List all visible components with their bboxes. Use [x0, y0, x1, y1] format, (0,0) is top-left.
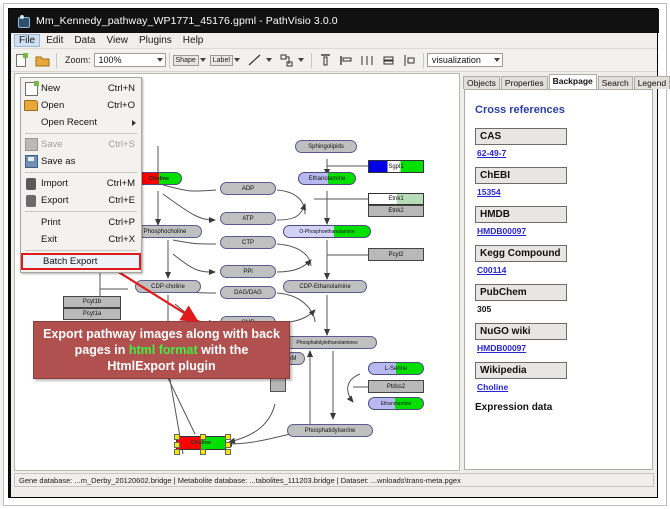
- node-choline-top[interactable]: Choline: [136, 172, 182, 185]
- connector-tool-icon[interactable]: [278, 52, 295, 69]
- node-label: ATP: [242, 216, 253, 222]
- node-cdp-choline[interactable]: CDP-choline: [135, 280, 201, 293]
- menu-edit[interactable]: Edit: [41, 34, 68, 47]
- open-folder-icon: [21, 97, 41, 114]
- app-root: Mm_Kennedy_pathway_WP1771_45176.gpml - P…: [0, 0, 670, 509]
- db-header-wikipedia: Wikipedia: [475, 362, 567, 379]
- new-document-icon: [21, 80, 41, 97]
- menu-separator: [25, 172, 137, 173]
- file-menu-item-new[interactable]: New Ctrl+N: [21, 80, 141, 97]
- side-panel: Objects Properties Backpage Search Legen…: [463, 73, 654, 471]
- file-menu-label: Export: [41, 195, 108, 206]
- node-etnk1[interactable]: Etnk1: [368, 193, 424, 205]
- node-label: ADP: [242, 186, 254, 192]
- resize-handle[interactable]: [225, 442, 231, 448]
- node-pcyt1a[interactable]: Pcyt1a: [63, 308, 121, 320]
- line-tool-icon[interactable]: [246, 52, 263, 69]
- file-menu-item-print[interactable]: Print Ctrl+P: [21, 214, 141, 231]
- node-label: Choline: [149, 176, 169, 182]
- file-menu-label: Exit: [41, 234, 108, 245]
- window-client-area: File Edit Data View Plugins Help Zoom: 1…: [11, 33, 657, 497]
- menu-separator: [25, 211, 137, 212]
- node-label: Etnk2: [388, 208, 403, 214]
- node-phosphatidylethanolamines[interactable]: Phosphatidylethanolamines: [277, 336, 377, 349]
- menu-bar: File Edit Data View Plugins Help: [11, 33, 657, 49]
- toolbar-separator: [169, 53, 170, 68]
- annotation-line2-a: pages in: [75, 343, 129, 357]
- zoom-label: Zoom:: [65, 55, 91, 65]
- application-window: Mm_Kennedy_pathway_WP1771_45176.gpml - P…: [8, 8, 658, 498]
- node-pcyt2[interactable]: Pcyt2: [368, 248, 424, 261]
- node-choline-bottom[interactable]: Choline: [176, 436, 226, 450]
- distribute-horizontal-icon[interactable]: [359, 52, 376, 69]
- node-label: Choline: [191, 440, 211, 446]
- size-match-icon[interactable]: [401, 52, 418, 69]
- node-label: Phosphatidylserine: [305, 428, 356, 434]
- db-header-pubchem: PubChem: [475, 284, 567, 301]
- node-phosphatidylserine[interactable]: Phosphatidylserine: [287, 424, 373, 437]
- db-header-nugo-wiki: NuGO wiki: [475, 323, 567, 340]
- resize-handle[interactable]: [174, 434, 180, 440]
- db-header-chebi: ChEBI: [475, 167, 567, 184]
- file-menu-popup[interactable]: New Ctrl+N Open Ctrl+O Open Recent Save: [20, 77, 142, 273]
- resize-handle[interactable]: [225, 449, 231, 455]
- window-title: Mm_Kennedy_pathway_WP1771_45176.gpml - P…: [36, 15, 338, 27]
- resize-handle[interactable]: [174, 442, 180, 448]
- annotation-text: Export pathway images along with back pa…: [37, 326, 286, 374]
- node-ptdss2[interactable]: Ptdss2: [368, 380, 424, 393]
- node-dag[interactable]: DAG/DAG: [220, 286, 276, 299]
- stack-icon[interactable]: [380, 52, 397, 69]
- file-menu-item-batch-export[interactable]: Batch Export: [21, 253, 141, 270]
- node-label: CDP-Ethanolamine: [299, 284, 350, 290]
- node-l-serine[interactable]: L-Serine: [368, 362, 424, 375]
- file-menu-accelerator: Ctrl+P: [108, 217, 135, 228]
- file-menu-accelerator: Ctrl+M: [107, 178, 135, 189]
- status-bar: Gene database: ...m_Derby_20120602.bridg…: [14, 473, 654, 487]
- node-label: Ethanolamine: [309, 176, 346, 182]
- tab-legend[interactable]: Legend: [634, 76, 670, 89]
- node-o-phosphoethanolamine[interactable]: O-Phosphoethanolamine: [283, 225, 371, 238]
- annotation-line2-b: with the: [198, 343, 249, 357]
- side-panel-tabs: Objects Properties Backpage Search Legen…: [463, 73, 654, 89]
- chevron-down-icon[interactable]: [266, 58, 272, 62]
- node-label: CTP: [242, 240, 254, 246]
- chevron-down-icon[interactable]: [234, 58, 240, 62]
- file-menu-item-save[interactable]: Save Ctrl+S: [21, 136, 141, 153]
- label-tool-label[interactable]: Label: [210, 55, 233, 66]
- chevron-down-icon: [157, 58, 163, 62]
- node-label: Phosphatidylethanolamines: [296, 340, 357, 346]
- menu-gutter: [21, 114, 41, 131]
- node-label: PPi: [243, 269, 252, 275]
- tab-objects[interactable]: Objects: [463, 76, 500, 89]
- backpage-content: Cross references CAS 62-49-7 ChEBI 15354…: [464, 89, 653, 470]
- db-value-wikipedia[interactable]: Choline: [477, 382, 652, 392]
- file-menu-accelerator: Ctrl+E: [108, 195, 135, 206]
- db-value-nugo-wiki[interactable]: HMDB00097: [477, 343, 652, 353]
- node-ethanolamine-top[interactable]: Ethanolamine: [298, 172, 356, 185]
- visualization-combobox[interactable]: visualization: [427, 53, 503, 67]
- db-value-cas[interactable]: 62-49-7: [477, 148, 652, 158]
- db-header-cas: CAS: [475, 128, 567, 145]
- tab-backpage[interactable]: Backpage: [549, 74, 597, 89]
- node-cdp-ethanolamine[interactable]: CDP-Ethanolamine: [283, 280, 367, 293]
- file-menu-label: Print: [41, 217, 108, 228]
- node-label: Phosphocholine: [144, 229, 187, 235]
- chevron-down-icon[interactable]: [200, 58, 206, 62]
- file-menu-item-save-as[interactable]: Save as: [21, 153, 141, 170]
- node-adp[interactable]: ADP: [220, 182, 276, 195]
- menu-gutter: [21, 231, 41, 248]
- menu-gutter: [21, 214, 41, 231]
- node-atp[interactable]: ATP: [220, 212, 276, 225]
- db-value-kegg-compound[interactable]: C00114: [477, 265, 652, 275]
- shape-tool-label[interactable]: Shape: [173, 55, 199, 66]
- resize-handle[interactable]: [225, 434, 231, 440]
- align-top-icon[interactable]: [317, 52, 334, 69]
- node-sphingolipids[interactable]: Sphingolipids: [295, 140, 357, 153]
- annotation-line1: Export pathway images along with back: [43, 327, 280, 341]
- node-etnk2[interactable]: Etnk2: [368, 205, 424, 217]
- chevron-down-icon[interactable]: [298, 58, 304, 62]
- file-menu-item-exit[interactable]: Exit Ctrl+X: [21, 231, 141, 248]
- file-menu-label: Import: [41, 178, 107, 189]
- expression-data-heading: Expression data: [475, 402, 652, 413]
- visualization-value: visualization: [432, 55, 481, 65]
- node-label: CDP-choline: [151, 284, 185, 290]
- zoom-value: 100%: [99, 55, 122, 65]
- file-menu-item-open-recent[interactable]: Open Recent: [21, 114, 141, 131]
- pathvisio-icon: [17, 15, 30, 28]
- annotation-line3: HtmlExport plugin: [107, 359, 215, 373]
- chevron-right-icon: [132, 120, 136, 126]
- file-menu-accelerator: Ctrl+X: [108, 234, 135, 245]
- tab-search[interactable]: Search: [598, 76, 633, 89]
- menu-separator: [25, 250, 137, 251]
- node-label: L-Serine: [385, 366, 408, 372]
- save-disk-icon: [21, 136, 41, 153]
- node-label: Etnk1: [388, 196, 403, 202]
- node-label: Ethanolamine: [381, 401, 412, 407]
- file-menu-label: Open Recent: [41, 117, 141, 128]
- file-menu-label: Open: [41, 100, 107, 111]
- file-menu-label: Batch Export: [43, 256, 139, 267]
- file-menu-accelerator: Ctrl+N: [108, 83, 135, 94]
- db-value-chebi[interactable]: 15354: [477, 187, 652, 197]
- node-ethanolamine-bottom[interactable]: Ethanolamine: [368, 397, 424, 410]
- node-label: O-Phosphoethanolamine: [299, 229, 354, 235]
- annotation-callout: Export pathway images along with back pa…: [33, 321, 290, 379]
- node-label: DAG/DAG: [234, 290, 262, 296]
- node-sgpl1[interactable]: Sgpl1: [368, 160, 424, 173]
- node-ctp[interactable]: CTP: [220, 236, 276, 249]
- resize-handle[interactable]: [200, 449, 206, 455]
- title-bar: Mm_Kennedy_pathway_WP1771_45176.gpml - P…: [9, 9, 659, 33]
- toolbar-separator: [311, 53, 312, 68]
- resize-handle[interactable]: [200, 434, 206, 440]
- node-ppi[interactable]: PPi: [220, 265, 276, 278]
- file-menu-label: Save as: [41, 156, 135, 167]
- file-menu-item-import[interactable]: Import Ctrl+M: [21, 175, 141, 192]
- chevron-down-icon: [494, 58, 500, 62]
- node-pcyt1b[interactable]: Pcyt1b: [63, 296, 121, 308]
- tool-bar: Zoom: 100% Shape Label: [11, 49, 657, 72]
- db-value-pubchem: 305: [477, 304, 652, 314]
- align-left-icon[interactable]: [338, 52, 355, 69]
- menu-plugins[interactable]: Plugins: [134, 34, 177, 47]
- file-menu-label: Save: [41, 139, 108, 150]
- db-header-hmdb: HMDB: [475, 206, 567, 223]
- file-menu-label: New: [41, 83, 108, 94]
- import-icon: [21, 175, 41, 192]
- cross-references-heading: Cross references: [475, 104, 652, 116]
- new-document-icon[interactable]: [13, 52, 30, 69]
- node-label: Ptdss2: [387, 384, 405, 390]
- toolbar-separator: [56, 53, 57, 68]
- menu-file[interactable]: File: [14, 34, 40, 47]
- status-text: Gene database: ...m_Derby_20120602.bridg…: [15, 476, 461, 485]
- node-label: Pcyt2: [388, 252, 403, 258]
- node-label: Pcyt1a: [83, 311, 101, 317]
- toolbar-separator: [423, 53, 424, 68]
- menu-help[interactable]: Help: [178, 34, 209, 47]
- tab-properties[interactable]: Properties: [501, 76, 548, 89]
- file-menu-item-export[interactable]: Export Ctrl+E: [21, 192, 141, 209]
- menu-data[interactable]: Data: [69, 34, 100, 47]
- node-label: Pcyt1b: [83, 299, 101, 305]
- menu-separator: [25, 133, 137, 134]
- resize-handle[interactable]: [174, 449, 180, 455]
- db-header-kegg-compound: Kegg Compound: [475, 245, 567, 262]
- export-icon: [21, 192, 41, 209]
- zoom-combobox[interactable]: 100%: [94, 53, 166, 67]
- save-as-icon: [21, 153, 41, 170]
- annotation-highlight: html format: [129, 343, 198, 357]
- menu-gutter: [23, 253, 43, 270]
- open-folder-icon[interactable]: [34, 52, 51, 69]
- file-menu-accelerator: Ctrl+O: [107, 100, 135, 111]
- node-label: Sgpl1: [388, 164, 403, 170]
- node-label: Sphingolipids: [308, 144, 344, 150]
- menu-view[interactable]: View: [101, 34, 133, 47]
- file-menu-accelerator: Ctrl+S: [108, 139, 135, 150]
- file-menu-item-open[interactable]: Open Ctrl+O: [21, 97, 141, 114]
- db-value-hmdb[interactable]: HMDB00097: [477, 226, 652, 236]
